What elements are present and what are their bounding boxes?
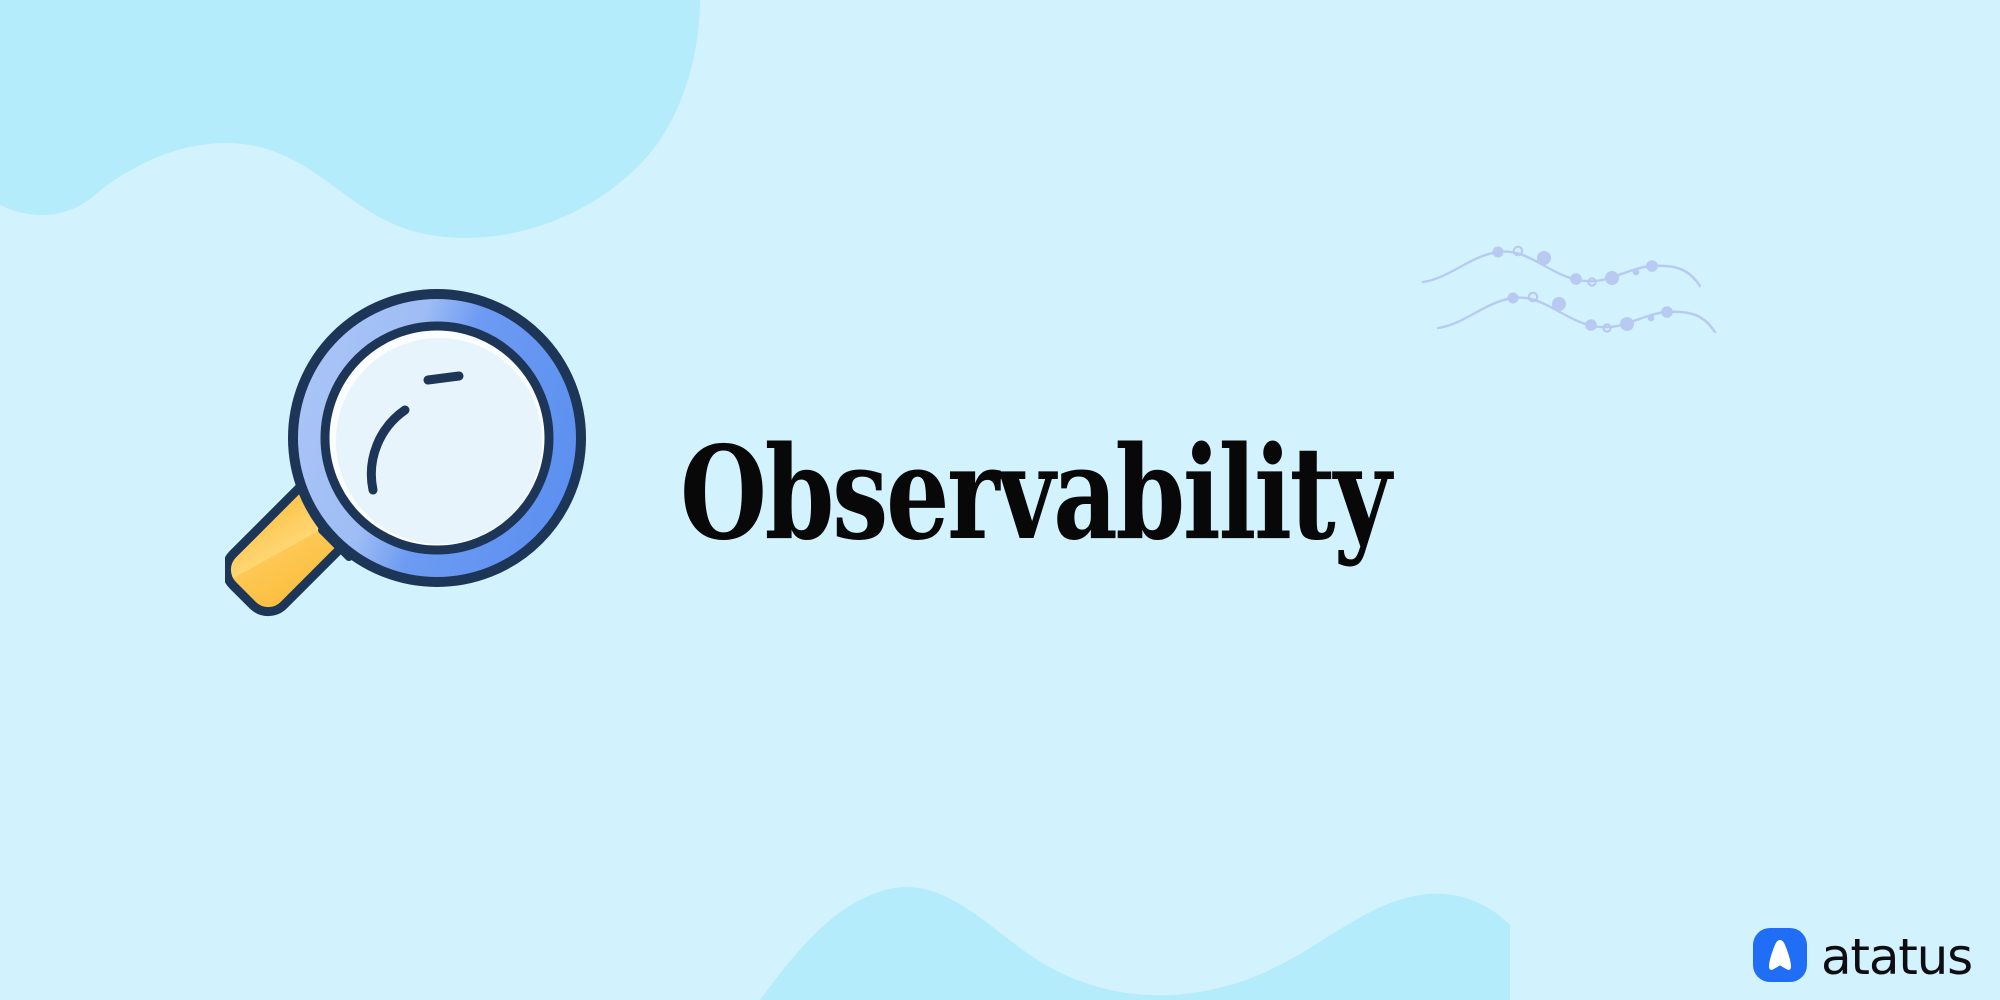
- observability-banner: Observability: [0, 0, 2000, 1000]
- magnifying-glass-icon: [225, 275, 600, 650]
- wave-line-2: [1438, 298, 1715, 332]
- atatus-wordmark: atatus: [1821, 932, 1972, 982]
- dotted-wave-decoration: [1420, 230, 1730, 350]
- atatus-mark-icon: [1753, 928, 1807, 982]
- page-title: Observability: [680, 430, 1389, 558]
- blob-bottom-wave: [760, 887, 1510, 1000]
- wave-dots: [1493, 247, 1673, 332]
- lens-highlight-short: [428, 376, 459, 380]
- wave-line-1: [1423, 252, 1700, 286]
- glass-lens: [336, 338, 542, 544]
- atatus-logo[interactable]: atatus: [1753, 928, 1972, 982]
- blob-top-left: [0, 0, 700, 238]
